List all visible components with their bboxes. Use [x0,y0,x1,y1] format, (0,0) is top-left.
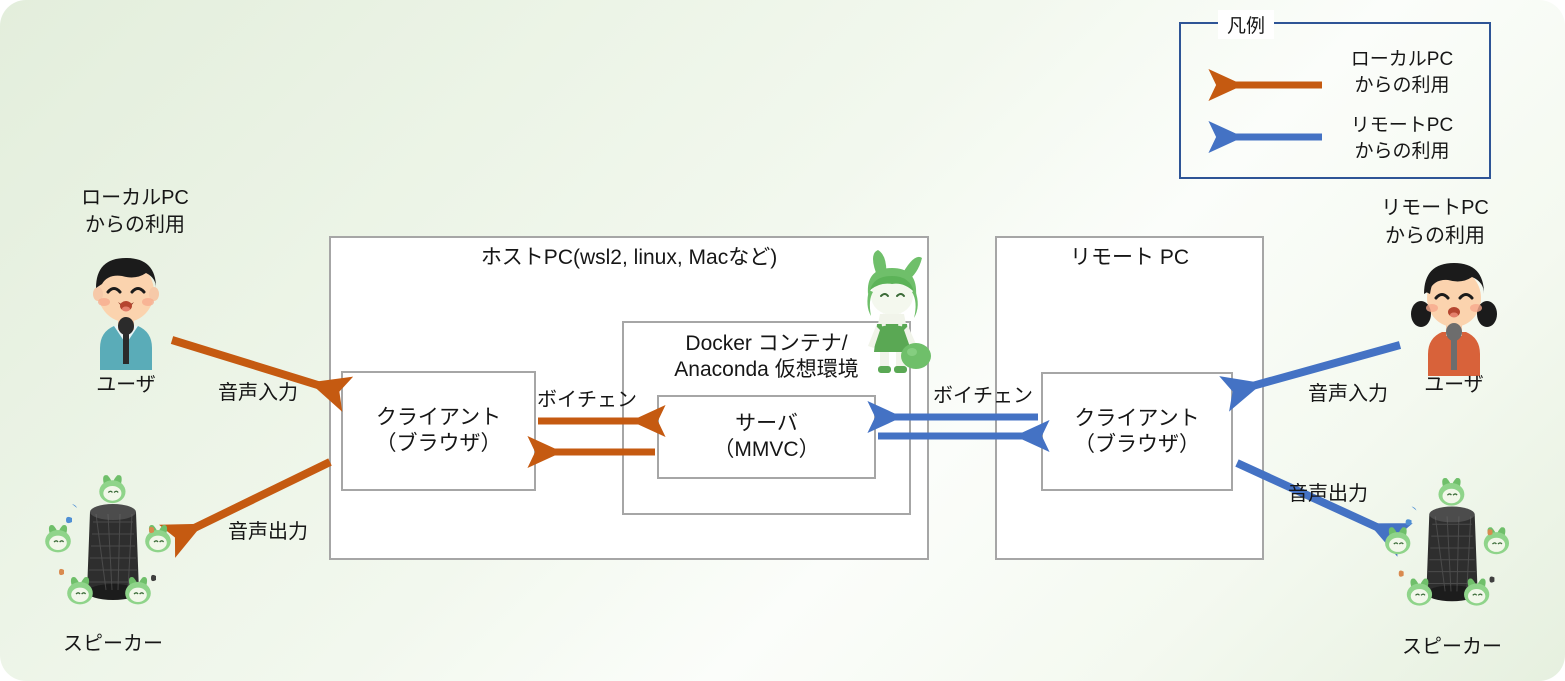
host-pc-title: ホストPC(wsl2, linux, Macなど) [329,246,929,271]
remote-client-label-line2: （ブラウザ） [1074,432,1200,458]
remote-user-caption: ユーザ [1406,368,1502,397]
remote-heading-line2: からの利用 [1345,224,1525,249]
label-local-voice-in: 音声入力 [198,381,318,406]
label-remote-voicechange: ボイチェン [933,384,1063,409]
remote-client-box[interactable]: クライアント （ブラウザ） [1041,372,1233,491]
zundamon-mascot-illustration [852,248,934,376]
server-box[interactable]: サーバ （MMVC） [657,395,876,479]
label-local-voice-out: 音声出力 [208,520,328,545]
remote-client-label-line1: クライアント [1074,406,1199,432]
legend-label-remote-line1: リモートPC [1327,114,1477,138]
label-remote-voice-out: 音声出力 [1268,482,1388,507]
local-user-caption: ユーザ [78,368,174,397]
host-client-label-line1: クライアント [376,405,501,431]
remote-heading-line1: リモートPC [1345,196,1525,221]
label-host-voicechange: ボイチェン [537,388,667,413]
server-label-line2: （MMVC） [713,437,819,463]
host-client-box[interactable]: クライアント （ブラウザ） [341,371,536,491]
label-remote-voice-in: 音声入力 [1288,382,1408,407]
legend-title: 凡例 [1218,10,1274,39]
host-client-label-line2: （ブラウザ） [376,431,502,457]
remote-speaker-caption: スピーカー [1378,630,1526,659]
legend-label-local-line1: ローカルPC [1327,48,1477,72]
remote-user-illustration [1406,258,1502,376]
local-speaker-caption: スピーカー [38,627,188,656]
local-heading-line1: ローカルPC [45,186,225,211]
server-label-line1: サーバ [735,411,798,437]
remote-pc-title: リモート PC [995,246,1264,271]
local-user-illustration [78,252,174,370]
legend-label-remote-line2: からの利用 [1327,140,1477,164]
legend-label-local-line2: からの利用 [1327,74,1477,98]
local-heading-line2: からの利用 [45,213,225,238]
local-speaker-illustration [38,470,188,615]
diagram-canvas: ホストPC(wsl2, linux, Macなど) Docker コンテナ/ A… [0,0,1565,681]
remote-speaker-illustration [1378,472,1526,617]
